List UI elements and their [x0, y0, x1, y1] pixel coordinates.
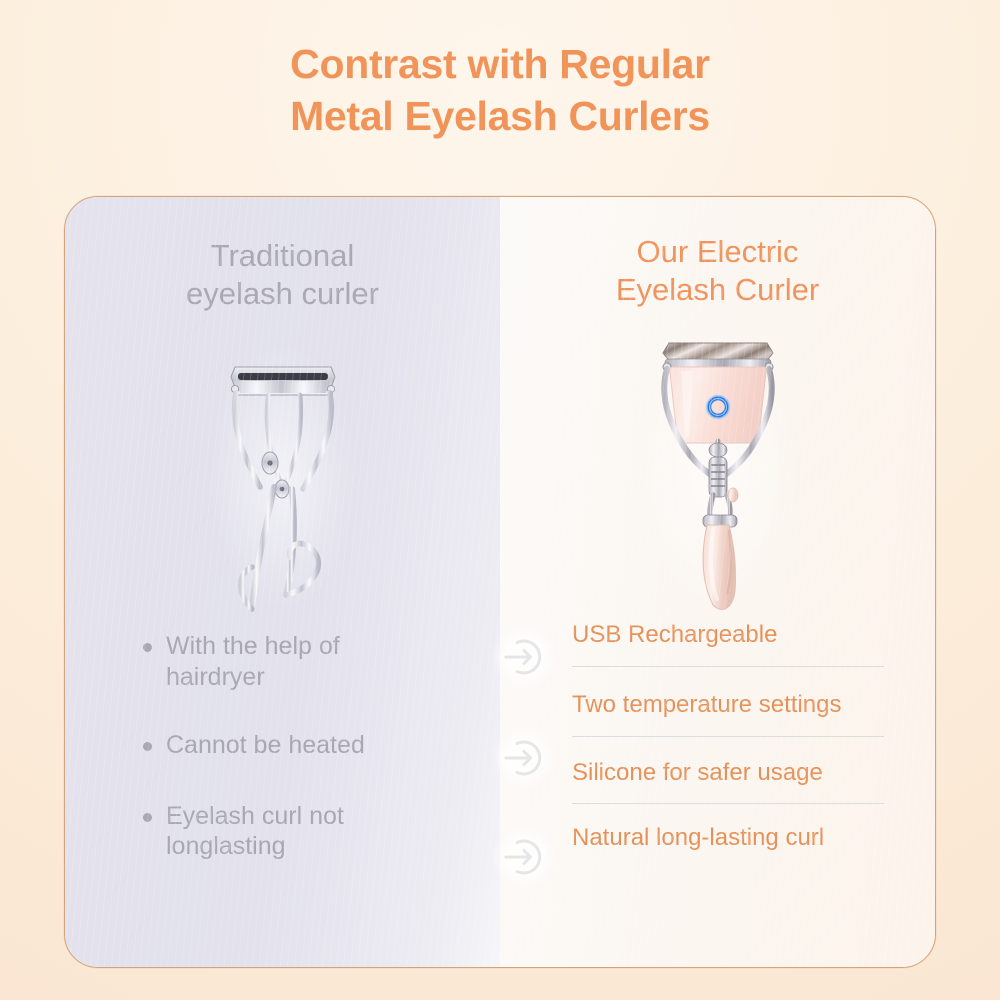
electric-column-heading: Our Electric Eyelash Curler: [500, 233, 935, 309]
traditional-curler-image: [65, 337, 500, 617]
list-item-label: With the help ofhairdryer: [166, 631, 473, 692]
traditional-column-heading: Traditional eyelash curler: [65, 237, 500, 313]
page-title-line-2: Metal Eyelash Curlers: [0, 90, 1000, 142]
arrow-icon-group: [501, 197, 565, 967]
list-item: Cannot be heated: [143, 730, 473, 761]
traditional-heading-line-2: eyelash curler: [87, 275, 478, 313]
bullet-dot-icon: [143, 742, 152, 751]
bullet-dot-icon: [143, 643, 152, 652]
arrow-icon-halo: [492, 625, 556, 689]
traditional-drawbacks-list: With the help ofhairdryer Cannot be heat…: [143, 631, 473, 900]
list-item: Silicone for safer usage: [572, 759, 884, 805]
list-item: With the help ofhairdryer: [143, 631, 473, 692]
list-item: Natural long-lasting curl: [572, 824, 884, 853]
electric-curler-image: [500, 319, 935, 619]
list-item-label: Eyelash curl notlonglasting: [166, 801, 473, 862]
page-title-line-1: Contrast with Regular: [0, 38, 1000, 90]
traditional-heading-line-1: Traditional: [87, 237, 478, 275]
arrow-into-circle-icon: [501, 735, 547, 781]
bullet-dot-icon: [143, 813, 152, 822]
arrow-icon-halo: [492, 825, 556, 889]
list-item: Eyelash curl notlonglasting: [143, 801, 473, 862]
page-title: Contrast with Regular Metal Eyelash Curl…: [0, 38, 1000, 142]
arrow-icon-halo: [492, 726, 556, 790]
list-item: USB Rechargeable: [572, 621, 884, 667]
electric-benefits-list: USB Rechargeable Two temperature setting…: [572, 621, 884, 873]
arrow-into-circle-icon: [501, 834, 547, 880]
electric-curler-column: Our Electric Eyelash Curler: [500, 197, 935, 967]
arrow-into-circle-icon: [501, 634, 547, 680]
electric-heading-line-1: Our Electric: [522, 233, 913, 271]
comparison-card: Traditional eyelash curler: [64, 196, 936, 968]
list-item-label: Cannot be heated: [166, 730, 473, 761]
electric-heading-line-2: Eyelash Curler: [522, 271, 913, 309]
traditional-curler-column: Traditional eyelash curler: [65, 197, 500, 967]
list-item: Two temperature settings: [572, 691, 884, 737]
